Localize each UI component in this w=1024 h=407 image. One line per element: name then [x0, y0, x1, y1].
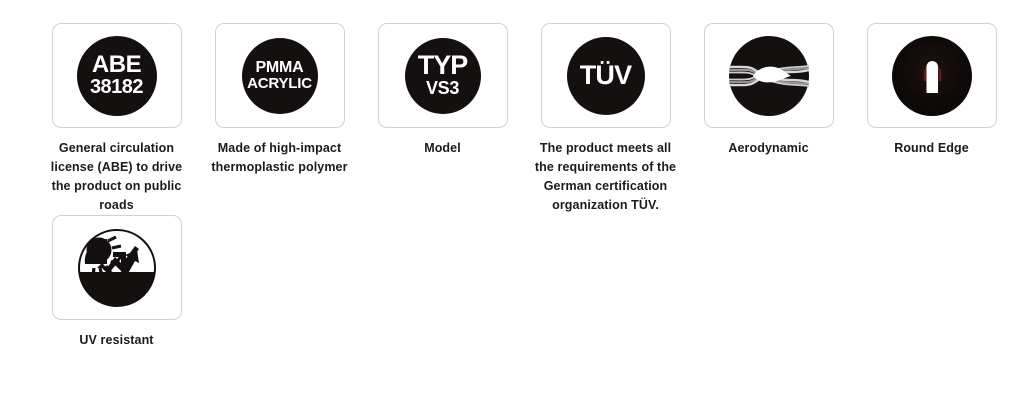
typ-icon-text-bottom: VS3 — [426, 79, 459, 97]
pmma-acrylic-icon: PMMA ACRYLIC — [242, 38, 318, 114]
sun-uv-resistant-icon — [77, 228, 157, 308]
badge-item-round-edge: Round Edge — [850, 23, 1013, 215]
badge-item-tuv: TÜV The product meets all the requiremen… — [524, 23, 687, 215]
airfoil-streamlines-icon — [729, 36, 809, 116]
badge-label-aerodynamic: Aerodynamic — [693, 139, 845, 158]
typ-icon-text-top: TYP — [418, 54, 468, 78]
tuv-certification-icon: TÜV — [567, 37, 645, 115]
badge-item-pmma: PMMA ACRYLIC Made of high-impact thermop… — [198, 23, 361, 215]
pmma-icon-text-bottom: ACRYLIC — [247, 76, 312, 91]
abe-certification-icon: ABE 38182 — [77, 36, 157, 116]
badge-item-abe: ABE 38182 General circulation license (A… — [35, 23, 198, 215]
badge-card-round-edge — [867, 23, 997, 128]
badge-label-uv-resistant: UV resistant — [41, 331, 193, 350]
feature-badge-grid: ABE 38182 General circulation license (A… — [0, 0, 1024, 350]
badge-item-typ: TYP VS3 Model — [361, 23, 524, 215]
badge-label-abe: General circulation license (ABE) to dri… — [41, 139, 193, 215]
badge-card-aerodynamic — [704, 23, 834, 128]
badge-card-typ: TYP VS3 — [378, 23, 508, 128]
badge-card-tuv: TÜV — [541, 23, 671, 128]
model-type-icon: TYP VS3 — [405, 38, 481, 114]
round-edge-profile-icon — [892, 36, 972, 116]
badge-card-uv-resistant — [52, 215, 182, 320]
badge-card-pmma: PMMA ACRYLIC — [215, 23, 345, 128]
tuv-icon-text: TÜV — [580, 62, 632, 89]
badge-item-uv-resistant: UV resistant — [35, 215, 198, 350]
abe-icon-text-bottom: 38182 — [90, 78, 143, 97]
abe-icon-text-top: ABE — [92, 54, 141, 76]
badge-label-typ: Model — [367, 139, 519, 158]
round-edge-bar-shape — [892, 36, 972, 116]
pmma-icon-text-top: PMMA — [255, 60, 303, 76]
badge-label-tuv: The product meets all the requirements o… — [530, 139, 682, 215]
badge-item-aerodynamic: Aerodynamic — [687, 23, 850, 215]
badge-card-abe: ABE 38182 — [52, 23, 182, 128]
badge-label-pmma: Made of high-impact thermoplastic polyme… — [204, 139, 356, 177]
badge-label-round-edge: Round Edge — [856, 139, 1008, 158]
